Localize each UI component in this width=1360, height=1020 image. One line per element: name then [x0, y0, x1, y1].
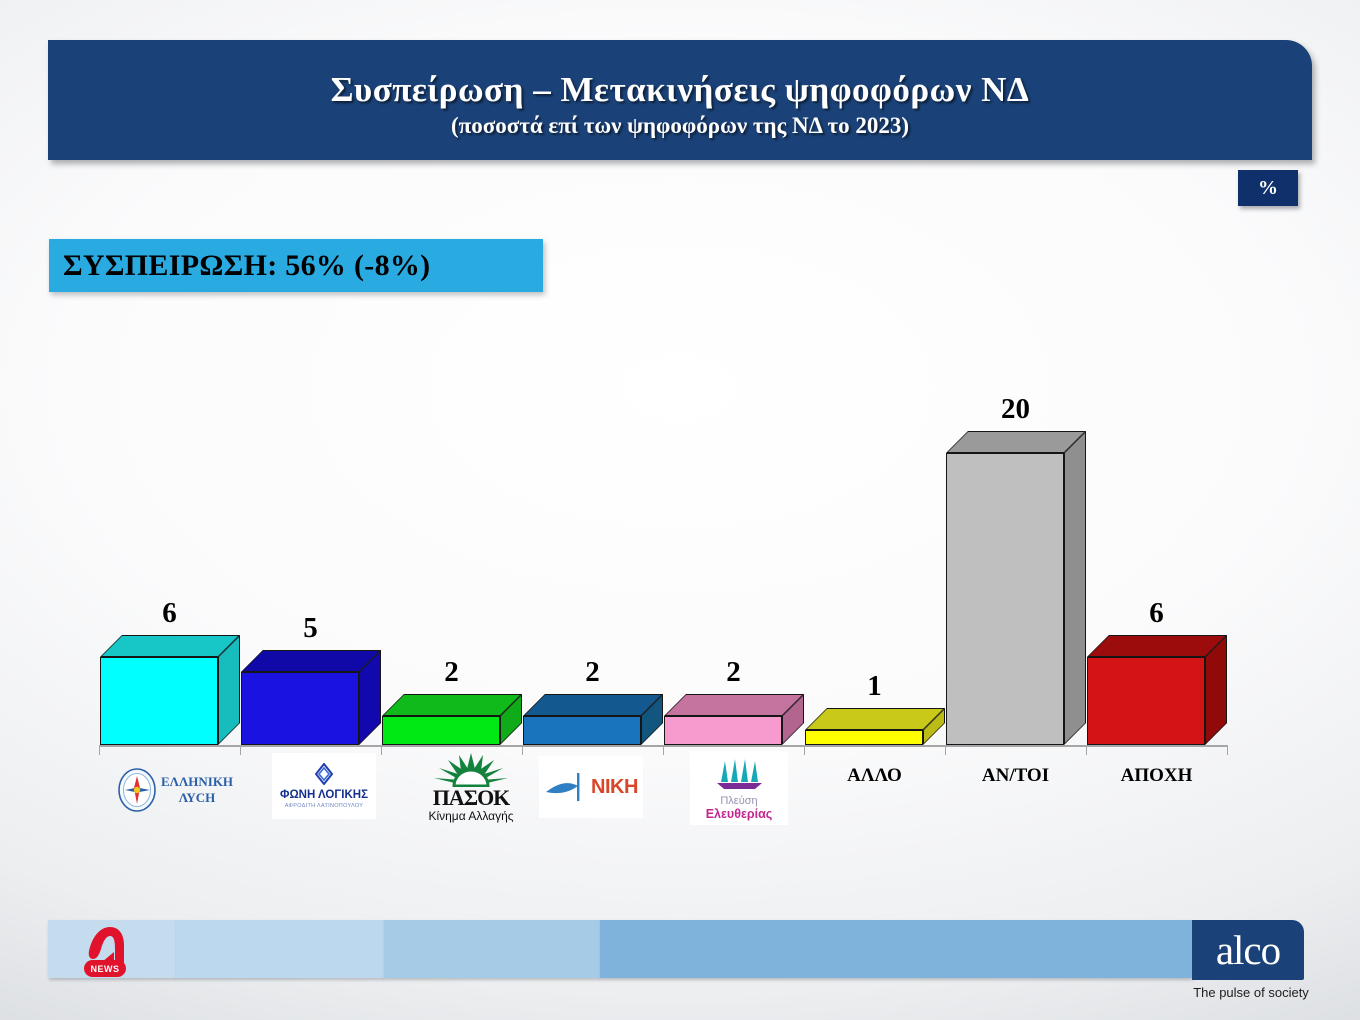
- flame-icon: [311, 763, 337, 785]
- bar-value-label: 20: [976, 393, 1056, 426]
- bar-front-face: [1087, 657, 1205, 745]
- bar: [664, 694, 804, 745]
- x-axis-tick: [663, 745, 664, 755]
- bar-front-face: [523, 716, 641, 745]
- bar-side-face: [1064, 431, 1086, 745]
- bar-value-label: 1: [835, 670, 915, 703]
- bar-front-face: [664, 716, 782, 745]
- logo-pasok: ΠΑΣΟΚ Κίνημα Αλλαγής: [419, 750, 523, 825]
- bar-top-face: [805, 708, 945, 730]
- category-label: ΑΛΛΟ: [805, 765, 945, 787]
- category-label: ΑΠΟΧΗ: [1087, 765, 1227, 787]
- bar-top-face: [1087, 635, 1227, 657]
- sailboat-icon: [712, 756, 766, 790]
- compass-icon: [117, 767, 157, 813]
- bar-value-label: 2: [694, 656, 774, 689]
- logo-label-line1: ΠΑΣΟΚ: [433, 787, 510, 809]
- category-label: ΑΝ/ΤΟΙ: [946, 765, 1086, 787]
- slide-root: Συσπείρωση – Μετακινήσεις ψηφοφόρων ΝΔ (…: [0, 0, 1360, 1020]
- footer-block: [176, 920, 384, 978]
- alco-logo-text: alco: [1216, 930, 1280, 971]
- alco-tagline: The pulse of society: [1192, 985, 1310, 1000]
- bar: [805, 708, 945, 745]
- x-axis-tick: [1227, 745, 1228, 755]
- logo-label-line1: ΦΩΝΗ ΛΟΓΙΚΗΣ: [280, 789, 368, 801]
- sun-rays-icon: [432, 753, 510, 787]
- bar: [241, 650, 381, 745]
- logo-label-line1: ΝΙΚΗ: [591, 776, 638, 799]
- logo-label-line1: ΕΛΛΗΝΙΚΗ: [161, 774, 233, 790]
- bar-top-face: [946, 431, 1086, 453]
- bar: [1087, 635, 1227, 745]
- bar-front-face: [382, 716, 500, 745]
- bar-front-face: [100, 657, 218, 745]
- bar: [946, 431, 1086, 745]
- bar-value-label: 6: [130, 597, 210, 630]
- bar-top-face: [382, 694, 522, 716]
- x-axis-tick: [240, 745, 241, 755]
- bar-top-face: [523, 694, 663, 716]
- footer-block: [384, 920, 600, 978]
- logo-elliniki-lysi: ΕΛΛΗΝΙΚΗ ΛΥCΗ: [110, 756, 240, 824]
- bar-front-face: [946, 453, 1064, 745]
- x-axis-tick: [1086, 745, 1087, 755]
- footer-block: [600, 920, 1192, 978]
- x-axis-tick: [99, 745, 100, 755]
- bar-value-label: 2: [412, 656, 492, 689]
- logo-label-line1: Πλεύση: [720, 795, 757, 807]
- bar-top-face: [664, 694, 804, 716]
- bar-top-face: [241, 650, 381, 672]
- x-axis-tick: [381, 745, 382, 755]
- logo-label-line2: ΛΥCΗ: [161, 790, 233, 806]
- bar: [382, 694, 522, 745]
- bar-value-label: 6: [1117, 597, 1197, 630]
- alpha-news-badge: NEWS: [84, 960, 126, 977]
- bar-chart: 652221ΑΛΛΟ20ΑΝ/ΤΟΙ6ΑΠΟΧΗ ΕΛΛΗΝΙΚΗ ΛΥCΗ Φ…: [0, 0, 1360, 1020]
- logo-plefsi-eleftherias: Πλεύση Ελευθερίας: [690, 751, 788, 825]
- bar: [523, 694, 663, 745]
- bar-value-label: 5: [271, 612, 351, 645]
- logo-label-line2: ΑΦΡΟΔΙΤΗ ΛΑΤΙΝΟΠΟΥΛΟΥ: [285, 803, 364, 809]
- bar-top-face: [100, 635, 240, 657]
- logo-niki: ΝΙΚΗ: [539, 756, 643, 818]
- bar: [100, 635, 240, 745]
- x-axis-tick: [804, 745, 805, 755]
- bar-front-face: [241, 672, 359, 745]
- logo-label-line2: Κίνημα Αλλαγής: [428, 809, 513, 823]
- niki-swoosh-icon: [544, 770, 590, 804]
- x-axis-tick: [945, 745, 946, 755]
- bar-front-face: [805, 730, 923, 745]
- bar-value-label: 2: [553, 656, 633, 689]
- alco-logo: alco: [1192, 920, 1304, 980]
- logo-foni-logikis: ΦΩΝΗ ΛΟΓΙΚΗΣ ΑΦΡΟΔΙΤΗ ΛΑΤΙΝΟΠΟΥΛΟΥ: [272, 753, 376, 819]
- logo-label-line2: Ελευθερίας: [706, 807, 773, 821]
